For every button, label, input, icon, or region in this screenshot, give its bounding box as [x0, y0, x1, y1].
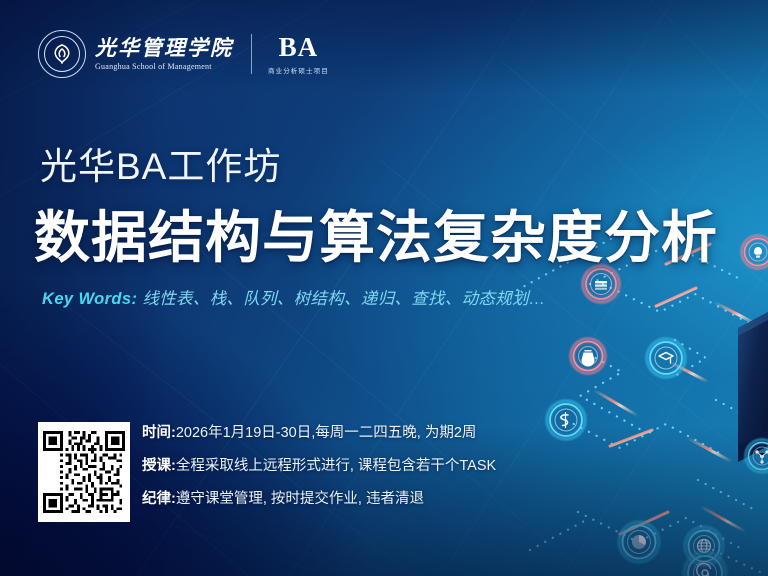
info-value: 2026年1月19日-30日,每周一二四五晚, 为期2周 — [176, 425, 477, 441]
peking-university-seal-icon — [38, 30, 86, 78]
node-globe-icon — [682, 524, 726, 568]
node-dollar-chart-icon — [544, 398, 588, 442]
ba-program-mark: BA 商业分析硕士项目 — [268, 34, 329, 75]
poster-canvas: 光华管理学院 Guanghua School of Management BA … — [0, 0, 768, 576]
keywords-text: 线性表、栈、队列、树结构、递归、查找、动态规划… — [142, 290, 545, 308]
program-name-cn: 商业分析硕士项目 — [268, 65, 329, 75]
node-pie-chart-icon — [616, 519, 662, 565]
info-row: 纪律:遵守课堂管理, 按时提交作业, 违者清退 — [142, 490, 496, 508]
page-title: 数据结构与算法复杂度分析 — [34, 193, 718, 274]
program-abbr: BA — [279, 34, 319, 61]
title-kicker: 光华BA工作坊 — [40, 136, 281, 190]
keywords-line: Key Words:线性表、栈、队列、树结构、递归、查找、动态规划… — [42, 291, 546, 308]
qr-code[interactable] — [38, 422, 130, 522]
school-name-cn: 光华管理学院 — [95, 37, 233, 59]
node-graduation-cap-icon — [644, 336, 688, 380]
info-list: 时间:2026年1月19日-30日,每周一二四五晚, 为期2周 授课:全程采取线… — [142, 424, 496, 508]
info-label: 授课: — [142, 458, 176, 474]
info-label: 时间: — [142, 425, 176, 441]
keywords-label: Key Words: — [42, 290, 137, 308]
school-name-en: Guanghua School of Management — [95, 62, 233, 71]
node-lightbulb-icon — [739, 233, 768, 271]
brand-logo: 光华管理学院 Guanghua School of Management BA … — [38, 28, 329, 80]
tablet-device-shape — [738, 312, 768, 462]
info-row: 时间:2026年1月19日-30日,每周一二四五晚, 为期2周 — [142, 424, 496, 442]
info-row: 授课:全程采取线上远程形式进行, 课程包含若干个TASK — [142, 457, 496, 475]
info-value: 全程采取线上远程形式进行, 课程包含若干个TASK — [176, 458, 496, 474]
info-value: 遵守课堂管理, 按时提交作业, 违者清退 — [176, 491, 424, 507]
node-at-sign-icon — [681, 549, 729, 576]
info-label: 纪律: — [142, 491, 176, 507]
node-money-bag-icon — [568, 336, 608, 376]
node-network-icon — [743, 437, 768, 475]
logo-divider — [251, 34, 252, 74]
